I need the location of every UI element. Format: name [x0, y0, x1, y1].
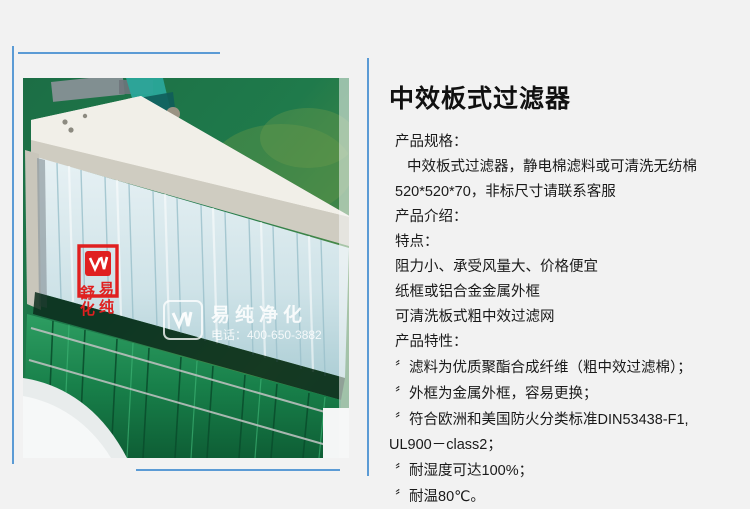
characteristic-text: 滤料为优质聚酯合成纤维（粗中效过滤棉）；	[409, 360, 692, 376]
characteristics-label: 产品特性：	[389, 330, 741, 355]
characteristic-item: 〞滤料为优质聚酯合成纤维（粗中效过滤棉）；	[389, 355, 741, 381]
characteristic-text: 耐温80℃。	[409, 489, 485, 505]
spec-label: 产品规格：	[389, 130, 741, 155]
characteristic-item: 〞符合欧洲和美国防火分类标准DIN53438-F1,	[389, 407, 741, 433]
product-detail-page: 舒 易 化 纯 易纯净化 电话：400-650-3882 中效板式过滤器 产品规…	[0, 0, 750, 509]
characteristic-text: 耐湿度可达100%；	[409, 463, 533, 479]
product-info-column: 中效板式过滤器 产品规格： 中效板式过滤器，静电棉滤料或可清洗无纺棉 520*5…	[389, 82, 741, 509]
top-left-bracket-vertical	[12, 46, 14, 464]
bullet-mark-icon: 〞	[395, 355, 409, 380]
characteristic-item: 〞耐温80℃。	[389, 484, 741, 509]
characteristic-text: 外框为金属外框，容易更换；	[409, 386, 598, 402]
bottom-right-bracket-horizontal	[136, 469, 340, 471]
intro-label: 产品介绍：	[389, 205, 741, 230]
characteristic-continuation: UL900－class2；	[389, 433, 741, 458]
page-title: 中效板式过滤器	[389, 82, 741, 116]
characteristic-item: 〞外框为金属外框，容易更换；	[389, 381, 741, 407]
characteristic-text: 符合欧洲和美国防火分类标准DIN53438-F1,	[409, 412, 689, 428]
feature-line-2: 纸框或铝合金金属外框	[389, 280, 741, 305]
product-photo	[23, 78, 349, 458]
feature-line-3: 可清洗板式粗中效过滤网	[389, 305, 741, 330]
bullet-mark-icon: 〞	[395, 458, 409, 483]
features-label: 特点：	[389, 230, 741, 255]
spec-line-2: 520*520*70，非标尺寸请联系客服	[389, 180, 741, 205]
bottom-right-bracket-vertical	[367, 58, 369, 476]
bullet-mark-icon: 〞	[395, 484, 409, 509]
bullet-mark-icon: 〞	[395, 407, 409, 432]
top-left-bracket-horizontal	[18, 52, 220, 54]
characteristic-item: 〞耐湿度可达100%；	[389, 458, 741, 484]
bullet-mark-icon: 〞	[395, 381, 409, 406]
feature-line-1: 阻力小、承受风量大、价格便宜	[389, 255, 741, 280]
spec-line-1: 中效板式过滤器，静电棉滤料或可清洗无纺棉	[389, 155, 741, 180]
